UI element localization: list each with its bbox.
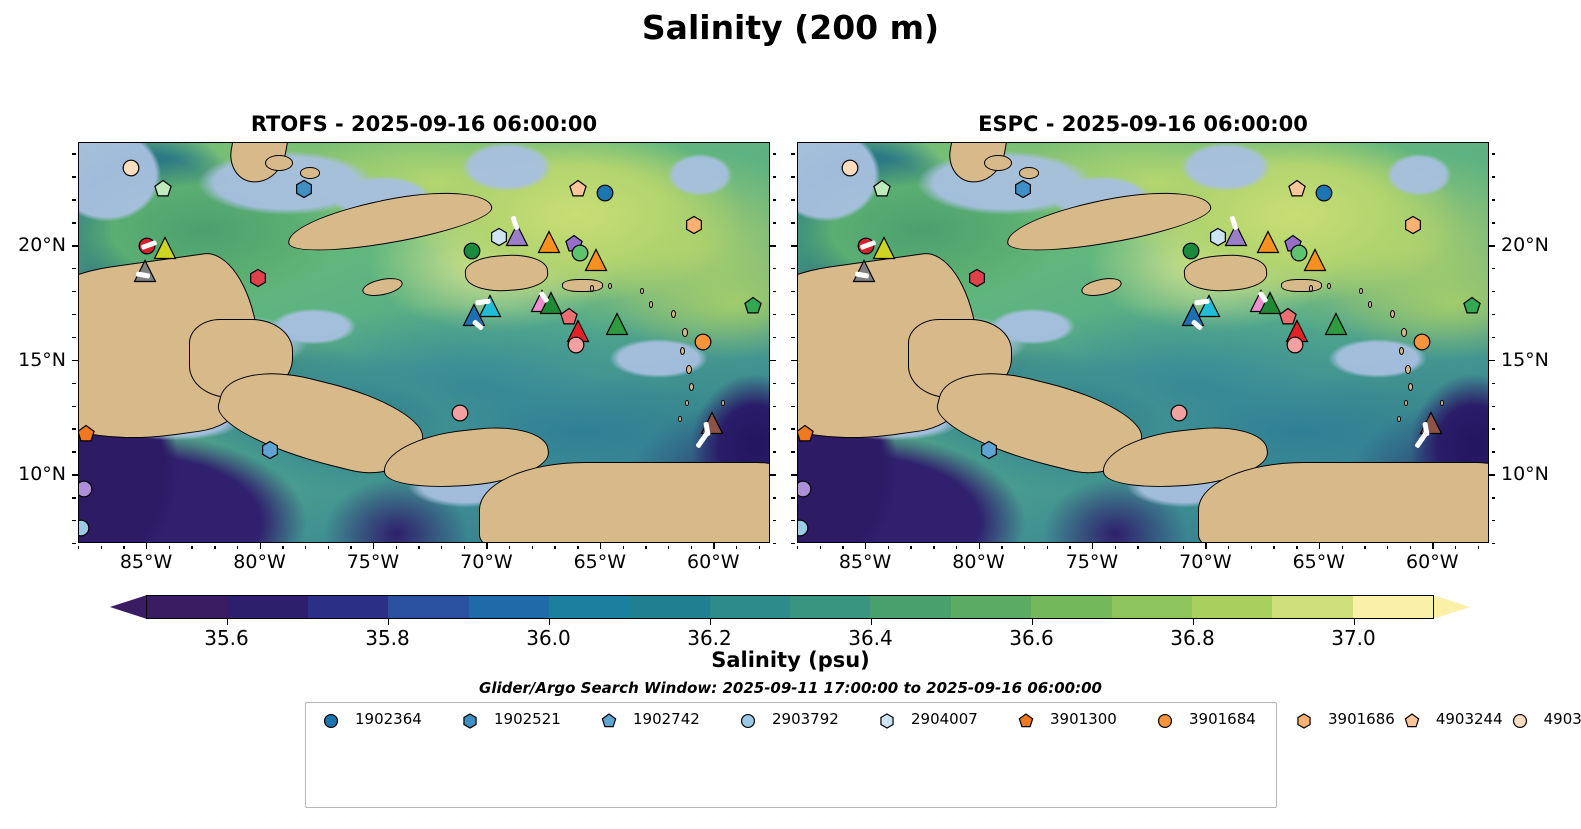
- legend-grid: 1902364190252119027422903792290400739013…: [314, 709, 1268, 731]
- y-tick-major: [72, 245, 78, 246]
- legend-item-4903244[interactable]: 4903244: [1395, 709, 1503, 731]
- legend-label: 3901686: [1328, 712, 1395, 727]
- x-axis-label-70°W: 70°W: [460, 551, 512, 573]
- colorbar-tick-label-36.6: 36.6: [1009, 626, 1054, 650]
- colorbar-gradient: [146, 595, 1434, 619]
- colorbar-segment-14: [1272, 596, 1352, 618]
- y-tick-minor: [791, 497, 795, 498]
- map-frame-rtofs: [78, 142, 770, 543]
- colorbar-segment-12: [1112, 596, 1192, 618]
- colorbar-extend-max-arrow: [1433, 595, 1470, 619]
- y-tick-minor: [1492, 176, 1496, 177]
- y-tick-minor: [1492, 337, 1496, 338]
- y-tick-minor: [72, 176, 76, 177]
- colorbar-segment-7: [710, 596, 790, 618]
- legend-label: 3901300: [1050, 712, 1117, 727]
- y-tick-minor: [791, 222, 795, 223]
- x-axis-label-70°W: 70°W: [1179, 551, 1231, 573]
- legend-label: 2903792: [772, 712, 839, 727]
- colorbar-segment-3: [388, 596, 468, 618]
- x-tick-minor: [888, 546, 889, 550]
- y-tick-minor: [1492, 222, 1496, 223]
- x-tick-minor: [282, 546, 283, 550]
- map-marker-3901686[interactable]: [683, 215, 704, 236]
- map-marker-1902742[interactable]: [259, 440, 280, 461]
- y-tick-minor: [72, 291, 76, 292]
- x-axis-label-75°W: 75°W: [1066, 551, 1118, 573]
- x-tick-minor: [842, 546, 843, 550]
- map-marker-7901042[interactable]: [78, 479, 94, 500]
- y-tick-minor: [791, 291, 795, 292]
- x-tick-minor: [645, 546, 646, 550]
- legend-item-3901684[interactable]: 3901684: [1148, 709, 1287, 731]
- x-tick-minor: [1387, 546, 1388, 550]
- legend-marker-circle-icon: [1148, 710, 1182, 730]
- y-tick-minor: [791, 383, 795, 384]
- island-7: [649, 301, 653, 307]
- y-tick-minor: [72, 543, 76, 544]
- colorbar-segment-4: [469, 596, 549, 618]
- y-tick-minor: [773, 222, 777, 223]
- colorbar-tick: [710, 619, 711, 625]
- x-tick-major: [1205, 543, 1206, 549]
- y-axis-label-15°N: 15°N: [18, 349, 66, 371]
- legend-label: 3901684: [1189, 712, 1256, 727]
- colorbar-tick: [227, 619, 228, 625]
- y-tick-minor: [1492, 497, 1496, 498]
- y-tick-minor: [791, 451, 795, 452]
- colorbar-tick-label-36.2: 36.2: [687, 626, 732, 650]
- colorbar-tick: [388, 619, 389, 625]
- y-tick-major: [1489, 245, 1495, 246]
- x-tick-minor: [956, 546, 957, 550]
- map-marker-5906437[interactable]: [1284, 334, 1305, 355]
- y-tick-minor: [791, 199, 795, 200]
- x-axis-label-65°W: 65°W: [574, 551, 626, 573]
- x-tick-minor: [1228, 546, 1229, 550]
- x-tick-major: [1319, 543, 1320, 549]
- x-tick-minor: [1183, 546, 1184, 550]
- x-axis-label-85°W: 85°W: [120, 551, 172, 573]
- island-8: [640, 288, 644, 294]
- island-2: [680, 347, 685, 355]
- map-marker-5906437b[interactable]: [1169, 403, 1190, 424]
- y-tick-minor: [72, 199, 76, 200]
- colorbar-segment-13: [1192, 596, 1272, 618]
- salinity-field-espc: [798, 143, 1488, 542]
- x-tick-minor: [736, 546, 737, 550]
- x-tick-minor: [1115, 546, 1116, 550]
- map-marker-1902364[interactable]: [1314, 183, 1335, 204]
- x-tick-major: [1432, 543, 1433, 549]
- legend-item-1902521[interactable]: 1902521: [453, 709, 592, 731]
- x-tick-minor: [509, 546, 510, 550]
- y-tick-minor: [1492, 291, 1496, 292]
- map-marker-echo[interactable]: [584, 247, 609, 272]
- panel-title-espc: ESPC - 2025-09-16 06:00:00: [797, 112, 1489, 136]
- colorbar-segment-0: [147, 596, 227, 618]
- colorbar-extend-min-arrow: [110, 595, 147, 619]
- map-marker-4903249[interactable]: [121, 158, 142, 179]
- x-tick-minor: [328, 546, 329, 550]
- x-tick-minor: [101, 546, 102, 550]
- y-tick-major: [72, 474, 78, 475]
- x-tick-major: [146, 543, 147, 549]
- y-tick-minor: [773, 383, 777, 384]
- y-tick-minor: [773, 291, 777, 292]
- y-tick-minor: [791, 176, 795, 177]
- y-tick-major: [72, 360, 78, 361]
- colorbar-tick-label-36.8: 36.8: [1170, 626, 1215, 650]
- y-tick-minor: [1492, 428, 1496, 429]
- island-0: [1390, 310, 1395, 318]
- figure-title: Salinity (200 m): [0, 8, 1581, 47]
- map-marker-1902521[interactable]: [1012, 178, 1033, 199]
- colorbar-segment-2: [308, 596, 388, 618]
- x-tick-minor: [759, 546, 760, 550]
- map-marker-3901684[interactable]: [692, 332, 713, 353]
- x-axis-label-85°W: 85°W: [839, 551, 891, 573]
- y-tick-major: [791, 360, 797, 361]
- legend-marker-pentagon-icon: [592, 710, 626, 730]
- map-marker-4903274[interactable]: [1180, 240, 1201, 261]
- search-window-note: Glider/Argo Search Window: 2025-09-11 17…: [0, 679, 1581, 697]
- y-axis-label-20°N: 20°N: [18, 234, 66, 256]
- map-marker-sg668[interactable]: [536, 229, 561, 254]
- island-8: [1359, 288, 1363, 294]
- legend-item-2903792[interactable]: 2903792: [731, 709, 870, 731]
- legend-label: 1902521: [494, 712, 561, 727]
- colorbar-segment-10: [951, 596, 1031, 618]
- map-marker-5906437b[interactable]: [450, 403, 471, 424]
- x-tick-minor: [623, 546, 624, 550]
- legend-marker-hexagon-icon: [453, 710, 487, 730]
- map-marker-4903472[interactable]: [152, 178, 173, 199]
- y-tick-minor: [791, 520, 795, 521]
- colorbar-tick: [1032, 619, 1033, 625]
- x-tick-minor: [910, 546, 911, 550]
- legend-marker-circle-icon: [1503, 710, 1537, 730]
- x-axis-label-60°W: 60°W: [687, 551, 739, 573]
- x-tick-minor: [1478, 546, 1479, 550]
- island-1: [682, 328, 688, 338]
- x-tick-minor: [1296, 546, 1297, 550]
- colorbar-tick-label-37.0: 37.0: [1331, 626, 1376, 650]
- map-marker-sg651[interactable]: [153, 236, 178, 261]
- x-tick-minor: [1342, 546, 1343, 550]
- map-marker-5906437[interactable]: [565, 334, 586, 355]
- island-10: [1309, 285, 1313, 291]
- y-tick-major: [770, 360, 776, 361]
- legend-marker-pentagon-icon: [1009, 710, 1043, 730]
- legend-item-4903249[interactable]: 4903249: [1503, 709, 1581, 731]
- legend-item-3901300[interactable]: 3901300: [1009, 709, 1148, 731]
- x-axis-label-80°W: 80°W: [233, 551, 285, 573]
- colorbar-label: Salinity (psu): [0, 648, 1581, 672]
- x-tick-minor: [1364, 546, 1365, 550]
- x-tick-minor: [668, 546, 669, 550]
- y-tick-minor: [791, 337, 795, 338]
- map-marker-4903249[interactable]: [840, 158, 861, 179]
- x-tick-minor: [78, 546, 79, 550]
- y-tick-minor: [773, 199, 777, 200]
- map-frame-espc: [797, 142, 1489, 543]
- panel-title-rtofs: RTOFS - 2025-09-16 06:00:00: [78, 112, 770, 136]
- colorbar-segment-1: [227, 596, 307, 618]
- map-marker-4903276[interactable]: [742, 295, 763, 316]
- map-marker-1902364[interactable]: [595, 183, 616, 204]
- y-tick-major: [1489, 474, 1495, 475]
- island-7: [1368, 301, 1372, 307]
- x-tick-minor: [797, 546, 798, 550]
- y-axis-label-15°N: 15°N: [1501, 349, 1549, 371]
- platform-legend[interactable]: 1902364190252119027422903792290400739013…: [305, 702, 1277, 808]
- y-tick-minor: [791, 153, 795, 154]
- x-tick-minor: [577, 546, 578, 550]
- x-tick-minor: [1455, 546, 1456, 550]
- y-axis-label-20°N: 20°N: [1501, 234, 1549, 256]
- colorbar-segment-15: [1353, 596, 1433, 618]
- y-tick-minor: [773, 428, 777, 429]
- x-tick-minor: [1024, 546, 1025, 550]
- colorbar-segment-5: [549, 596, 629, 618]
- map-marker-4903563[interactable]: [967, 268, 988, 289]
- x-tick-minor: [554, 546, 555, 550]
- map-panel-espc[interactable]: ESPC - 2025-09-16 06:00:00 85°W80°W75°W7…: [797, 142, 1489, 543]
- x-axis-label-75°W: 75°W: [347, 551, 399, 573]
- colorbar-segment-11: [1031, 596, 1111, 618]
- x-axis-label-65°W: 65°W: [1293, 551, 1345, 573]
- legend-label: 4903244: [1436, 712, 1503, 727]
- y-tick-minor: [72, 268, 76, 269]
- y-tick-major: [770, 245, 776, 246]
- x-tick-minor: [1273, 546, 1274, 550]
- map-marker-4903244[interactable]: [1287, 178, 1308, 199]
- y-tick-minor: [773, 337, 777, 338]
- y-tick-minor: [1492, 520, 1496, 521]
- y-tick-minor: [1492, 268, 1496, 269]
- legend-label: 1902364: [355, 712, 422, 727]
- colorbar-segment-6: [629, 596, 709, 618]
- y-axis-label-10°N: 10°N: [1501, 463, 1549, 485]
- x-tick-minor: [418, 546, 419, 550]
- island-2: [1399, 347, 1404, 355]
- y-tick-minor: [1492, 314, 1496, 315]
- x-tick-major: [373, 543, 374, 549]
- y-tick-minor: [1492, 199, 1496, 200]
- colorbar-tick-label-35.8: 35.8: [365, 626, 410, 650]
- legend-label: 1902742: [633, 712, 700, 727]
- map-marker-4903244[interactable]: [568, 178, 589, 199]
- y-tick-minor: [773, 153, 777, 154]
- x-tick-minor: [691, 546, 692, 550]
- colorbar-tick-label-36.0: 36.0: [526, 626, 571, 650]
- map-marker-sg670[interactable]: [604, 312, 629, 337]
- map-marker-4903274[interactable]: [461, 240, 482, 261]
- map-marker-2903792[interactable]: [797, 517, 811, 538]
- x-tick-minor: [305, 546, 306, 550]
- legend-label: 2904007: [911, 712, 978, 727]
- colorbar-tick-label-35.6: 35.6: [204, 626, 249, 650]
- y-tick-minor: [1492, 406, 1496, 407]
- x-tick-minor: [1047, 546, 1048, 550]
- colorbar-tick: [1193, 619, 1194, 625]
- x-tick-minor: [214, 546, 215, 550]
- x-axis-label-60°W: 60°W: [1406, 551, 1458, 573]
- salinity-field-rtofs: [79, 143, 769, 542]
- x-tick-minor: [123, 546, 124, 550]
- y-tick-minor: [72, 406, 76, 407]
- map-marker-4903276[interactable]: [1461, 295, 1482, 316]
- legend-item-1902364[interactable]: 1902364: [314, 709, 453, 731]
- x-tick-minor: [237, 546, 238, 550]
- y-tick-minor: [791, 268, 795, 269]
- legend-marker-circle-icon: [731, 710, 765, 730]
- y-tick-minor: [72, 222, 76, 223]
- x-tick-minor: [191, 546, 192, 550]
- y-tick-minor: [773, 497, 777, 498]
- y-tick-minor: [773, 543, 777, 544]
- map-marker-7901042[interactable]: [797, 479, 813, 500]
- y-tick-minor: [72, 314, 76, 315]
- y-tick-minor: [72, 153, 76, 154]
- map-marker-sg668[interactable]: [1255, 229, 1280, 254]
- legend-marker-circle-icon: [314, 710, 348, 730]
- y-tick-major: [791, 245, 797, 246]
- legend-item-1902742[interactable]: 1902742: [592, 709, 731, 731]
- map-marker-3901686[interactable]: [1402, 215, 1423, 236]
- map-marker-1902742[interactable]: [978, 440, 999, 461]
- colorbar[interactable]: 35.635.836.036.236.436.636.837.0: [110, 595, 1470, 619]
- legend-item-2904007[interactable]: 2904007: [870, 709, 1009, 731]
- x-tick-minor: [1410, 546, 1411, 550]
- y-tick-minor: [773, 406, 777, 407]
- y-tick-minor: [773, 176, 777, 177]
- y-tick-major: [791, 474, 797, 475]
- map-marker-4903563[interactable]: [248, 268, 269, 289]
- y-tick-minor: [773, 451, 777, 452]
- y-tick-minor: [791, 314, 795, 315]
- y-tick-minor: [72, 383, 76, 384]
- y-tick-minor: [1492, 383, 1496, 384]
- y-tick-minor: [1492, 543, 1496, 544]
- y-tick-minor: [1492, 451, 1496, 452]
- map-marker-echo[interactable]: [1303, 247, 1328, 272]
- y-tick-minor: [773, 268, 777, 269]
- x-axis-label-80°W: 80°W: [952, 551, 1004, 573]
- legend-marker-hexagon-icon: [1287, 710, 1321, 730]
- map-marker-2903792[interactable]: [78, 517, 92, 538]
- colorbar-tick-label-36.4: 36.4: [848, 626, 893, 650]
- y-tick-minor: [791, 543, 795, 544]
- map-marker-sg651[interactable]: [872, 236, 897, 261]
- legend-item-3901686[interactable]: 3901686: [1287, 709, 1395, 731]
- y-axis-label-10°N: 10°N: [18, 463, 66, 485]
- x-tick-minor: [350, 546, 351, 550]
- y-tick-minor: [72, 451, 76, 452]
- x-tick-minor: [933, 546, 934, 550]
- map-marker-3901300[interactable]: [797, 424, 815, 445]
- colorbar-segment-9: [870, 596, 950, 618]
- x-tick-minor: [169, 546, 170, 550]
- y-tick-minor: [773, 314, 777, 315]
- map-marker-1902521[interactable]: [293, 178, 314, 199]
- x-tick-major: [486, 543, 487, 549]
- x-tick-minor: [1137, 546, 1138, 550]
- x-tick-major: [979, 543, 980, 549]
- island-1: [1401, 328, 1407, 338]
- x-tick-minor: [532, 546, 533, 550]
- island-0: [671, 310, 676, 318]
- y-tick-minor: [72, 497, 76, 498]
- map-marker-3901300[interactable]: [78, 424, 96, 445]
- colorbar-tick: [1354, 619, 1355, 625]
- colorbar-segment-8: [790, 596, 870, 618]
- y-tick-minor: [72, 337, 76, 338]
- y-tick-minor: [791, 428, 795, 429]
- y-tick-minor: [72, 428, 76, 429]
- colorbar-tick: [871, 619, 872, 625]
- x-tick-major: [1092, 543, 1093, 549]
- y-tick-major: [1489, 360, 1495, 361]
- x-tick-minor: [820, 546, 821, 550]
- x-tick-minor: [1001, 546, 1002, 550]
- x-tick-minor: [1069, 546, 1070, 550]
- legend-marker-hexagon-icon: [870, 710, 904, 730]
- colorbar-tick: [549, 619, 550, 625]
- y-tick-major: [770, 474, 776, 475]
- x-tick-minor: [464, 546, 465, 550]
- y-tick-minor: [1492, 153, 1496, 154]
- map-marker-sg670[interactable]: [1323, 312, 1348, 337]
- x-tick-minor: [396, 546, 397, 550]
- x-tick-minor: [441, 546, 442, 550]
- map-marker-4903472[interactable]: [871, 178, 892, 199]
- x-tick-major: [260, 543, 261, 549]
- legend-label: 4903249: [1544, 712, 1581, 727]
- y-tick-minor: [72, 520, 76, 521]
- map-marker-3901684[interactable]: [1411, 332, 1432, 353]
- x-tick-minor: [1160, 546, 1161, 550]
- legend-marker-pentagon-icon: [1395, 710, 1429, 730]
- figure-canvas: Salinity (200 m) RTOFS - 2025-09-16 06:0…: [0, 0, 1581, 829]
- x-tick-minor: [1251, 546, 1252, 550]
- island-10: [590, 285, 594, 291]
- x-tick-major: [865, 543, 866, 549]
- y-tick-minor: [773, 520, 777, 521]
- map-panel-rtofs[interactable]: RTOFS - 2025-09-16 06:00:00 85°W80°W75°W…: [78, 142, 770, 543]
- y-tick-minor: [791, 406, 795, 407]
- x-tick-major: [713, 543, 714, 549]
- x-tick-major: [600, 543, 601, 549]
